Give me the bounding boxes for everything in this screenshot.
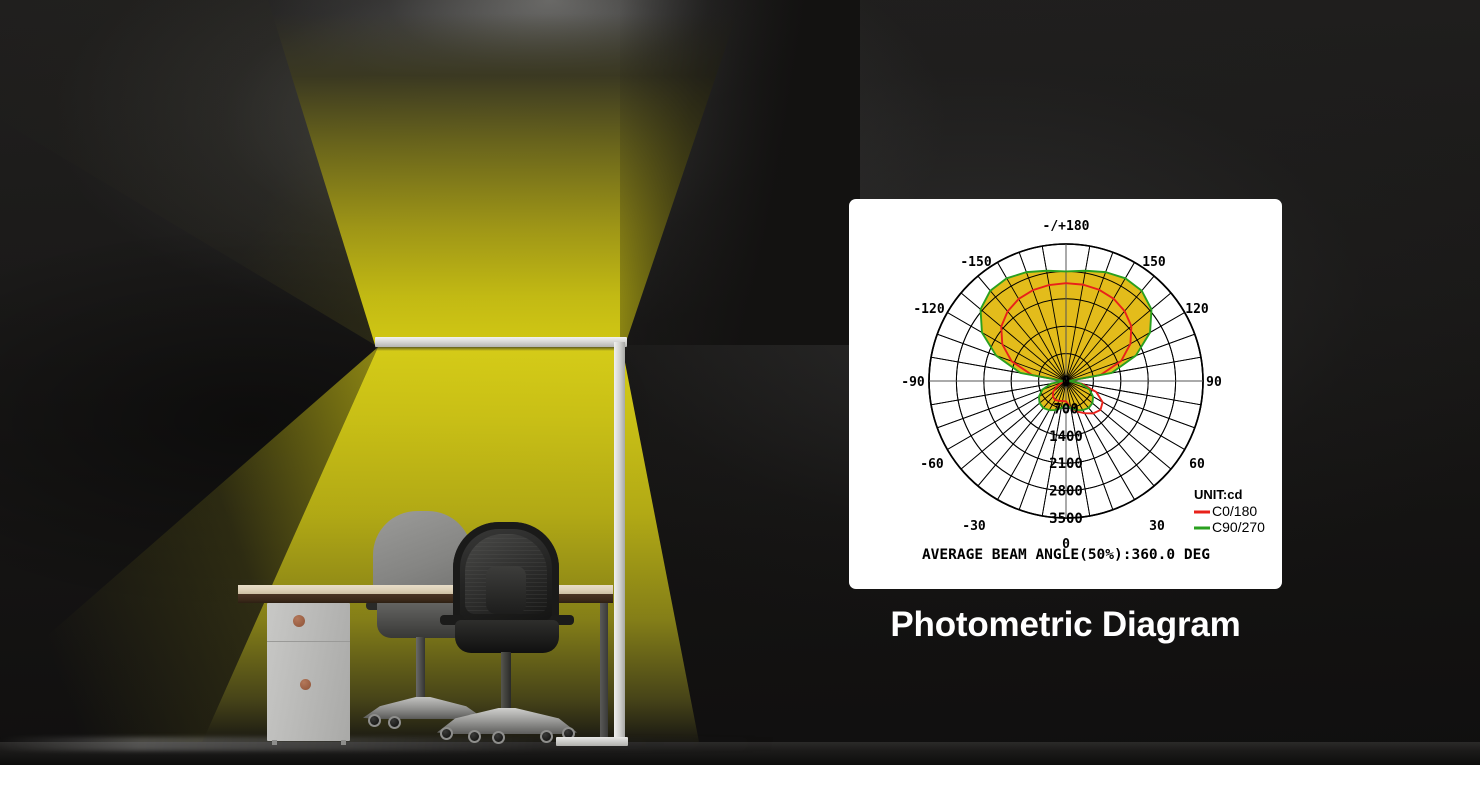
pedestal-foot bbox=[341, 740, 346, 745]
angle-tick-label: -150 bbox=[960, 255, 991, 270]
task-chair-black-lumbar-support bbox=[486, 566, 526, 614]
legend-label-C90-270: C90/270 bbox=[1212, 519, 1265, 535]
pedestal-drawer-seam bbox=[267, 641, 350, 642]
angle-tick-label: -/+180 bbox=[1043, 219, 1090, 234]
radial-tick-label: 2100 bbox=[1049, 456, 1083, 472]
polar-photometric-chart: -/+1801501209060300-30-60-90-120-1500700… bbox=[849, 199, 1282, 589]
uplight-beam-right-shadow bbox=[620, 0, 860, 345]
photometric-diagram-page: -/+1801501209060300-30-60-90-120-1500700… bbox=[0, 0, 1480, 796]
angle-tick-label: -60 bbox=[920, 457, 944, 472]
floor-lamp-post bbox=[614, 342, 625, 746]
caster-wheel bbox=[368, 714, 381, 727]
task-chair-black-cylinder bbox=[501, 652, 511, 714]
pedestal-drawer-unit bbox=[267, 603, 350, 741]
caster-wheel bbox=[440, 727, 453, 740]
caster-wheel bbox=[540, 730, 553, 743]
pedestal-foot bbox=[272, 740, 277, 745]
angle-tick-label: 120 bbox=[1185, 302, 1209, 317]
photometric-chart-panel: -/+1801501209060300-30-60-90-120-1500700… bbox=[849, 199, 1282, 589]
pedestal-handle-upper bbox=[293, 615, 305, 627]
pedestal-handle-lower bbox=[300, 679, 311, 690]
angle-tick-label: 30 bbox=[1149, 519, 1165, 534]
floor-reflection bbox=[0, 737, 780, 751]
caster-wheel bbox=[468, 730, 481, 743]
angle-tick-label: 90 bbox=[1206, 375, 1222, 390]
floor-lamp-base bbox=[556, 737, 628, 746]
caster-wheel bbox=[388, 716, 401, 729]
chart-caption-beam-angle: AVERAGE BEAM ANGLE(50%):360.0 DEG bbox=[922, 547, 1210, 563]
radial-tick-label: 3500 bbox=[1049, 511, 1083, 527]
radial-tick-label: 1400 bbox=[1049, 429, 1083, 445]
desk-leg bbox=[600, 603, 608, 743]
floor-lamp-head bbox=[375, 337, 627, 347]
angle-tick-label: 150 bbox=[1142, 255, 1166, 270]
radial-tick-label: 0 bbox=[1062, 374, 1070, 390]
angle-tick-label: 60 bbox=[1189, 457, 1205, 472]
legend-unit-label: UNIT:cd bbox=[1194, 487, 1242, 502]
angle-tick-label: -90 bbox=[901, 375, 925, 390]
angle-tick-label: -30 bbox=[962, 519, 986, 534]
radial-tick-label: 2800 bbox=[1049, 484, 1083, 500]
angle-tick-label: -120 bbox=[913, 302, 944, 317]
caster-wheel bbox=[492, 731, 505, 744]
legend-label-C0-180: C0/180 bbox=[1212, 503, 1257, 519]
radial-tick-label: 700 bbox=[1053, 401, 1078, 417]
task-chair-gray-cylinder bbox=[416, 637, 425, 702]
task-chair-black-seat bbox=[455, 620, 559, 653]
page-title: Photometric Diagram bbox=[849, 605, 1282, 645]
